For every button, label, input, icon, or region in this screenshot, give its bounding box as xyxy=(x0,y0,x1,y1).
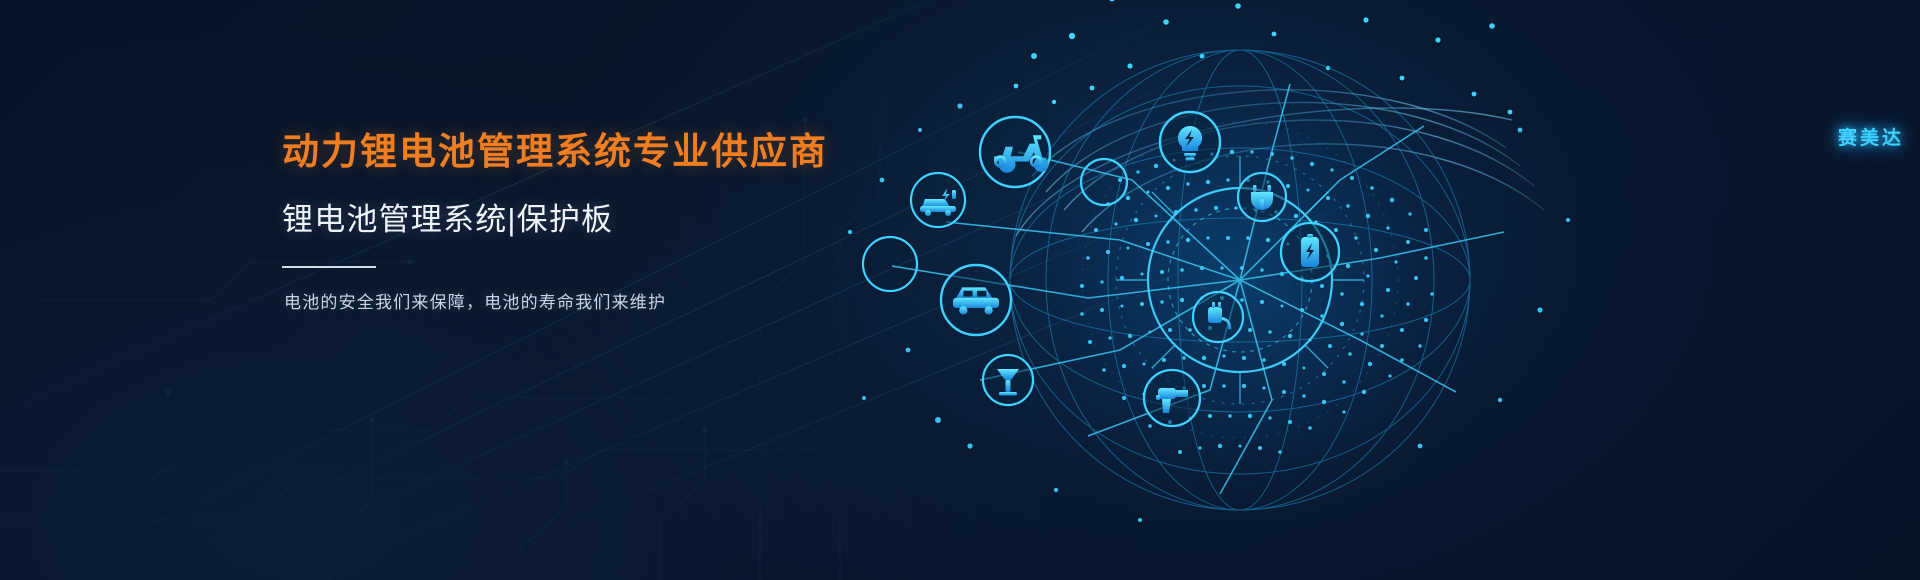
node-plug-icon xyxy=(1238,173,1286,221)
node-empty-b xyxy=(1081,159,1127,205)
node-empty-a xyxy=(863,237,917,291)
node-car-charging-icon xyxy=(911,173,965,227)
node-lamp-icon xyxy=(983,355,1033,405)
node-charger-icon xyxy=(1193,292,1243,342)
globe-node-overlay xyxy=(820,0,1640,580)
title-divider xyxy=(282,266,376,268)
node-car-icon xyxy=(941,265,1011,335)
hero-banner: 动力锂电池管理系统专业供应商 锂电池管理系统|保护板 电池的安全我们来保障，电池… xyxy=(0,0,1920,580)
network-globe-graphic: 赛美达 xyxy=(820,0,1640,580)
node-drill-icon xyxy=(1144,370,1200,426)
node-bulb-bolt-icon xyxy=(1160,112,1220,172)
node-battery-pack-icon xyxy=(1281,223,1339,281)
node-scooter-icon xyxy=(980,117,1050,187)
